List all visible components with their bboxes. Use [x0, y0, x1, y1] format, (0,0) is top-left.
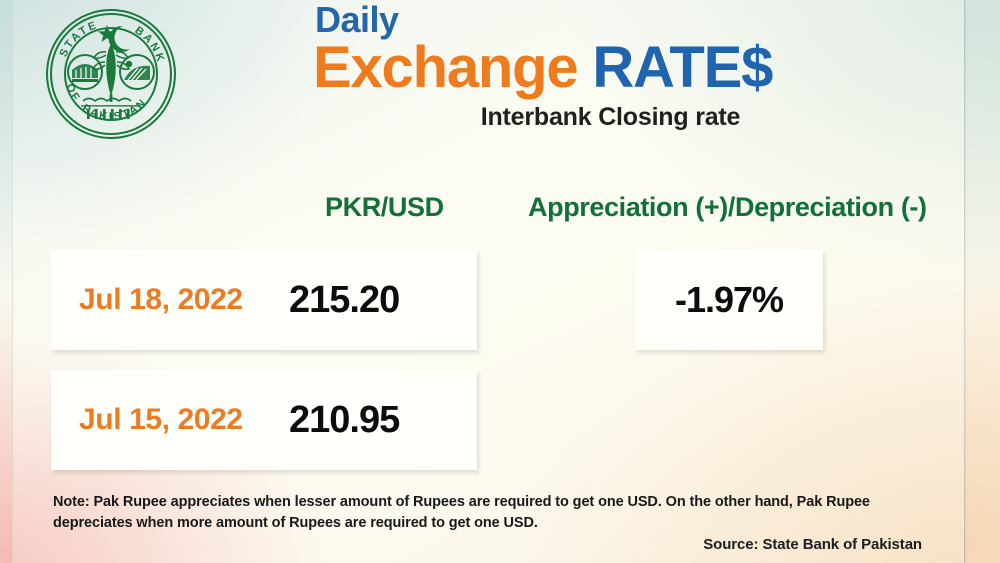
footer-note: Note: Pak Rupee appreciates when lesser …: [53, 492, 933, 533]
table-row: Jul 15, 2022 210.95: [51, 370, 477, 470]
title-block: Daily Exchange RATE$ Interbank Closing r…: [303, 2, 863, 132]
seal-text-bank: BANK: [133, 24, 167, 65]
table-row: Jul 18, 2022 215.20: [51, 250, 477, 350]
title-exchange: Exchange: [313, 35, 577, 100]
seal-text-of: OF: [63, 82, 82, 105]
row-rate: 215.20: [289, 279, 477, 322]
infographic-canvas: STATE BANK OF PAKISTAN Daily Excha: [0, 0, 1000, 563]
change-value-card: -1.97%: [635, 250, 823, 350]
title-daily: Daily: [303, 2, 863, 38]
seal-text-state: STATE: [57, 19, 99, 59]
change-value: -1.97%: [635, 250, 823, 350]
content-panel: STATE BANK OF PAKISTAN Daily Excha: [12, 0, 965, 563]
title-rates: RATE$: [592, 35, 772, 100]
state-bank-of-pakistan-logo: STATE BANK OF PAKISTAN: [43, 6, 179, 142]
footer-source: Source: State Bank of Pakistan: [703, 536, 922, 553]
column-header-rate: PKR/USD: [325, 192, 444, 223]
seal-icon: STATE BANK OF PAKISTAN: [43, 6, 179, 142]
page-subtitle: Interbank Closing rate: [303, 103, 863, 132]
row-date: Jul 15, 2022: [51, 403, 289, 437]
column-header-change: Appreciation (+)/Depreciation (-): [528, 192, 927, 223]
row-rate: 210.95: [289, 399, 477, 442]
row-date: Jul 18, 2022: [51, 283, 289, 317]
title-main: Exchange RATE$: [303, 38, 863, 97]
seal-text-pakistan: PAKISTAN: [80, 96, 150, 123]
